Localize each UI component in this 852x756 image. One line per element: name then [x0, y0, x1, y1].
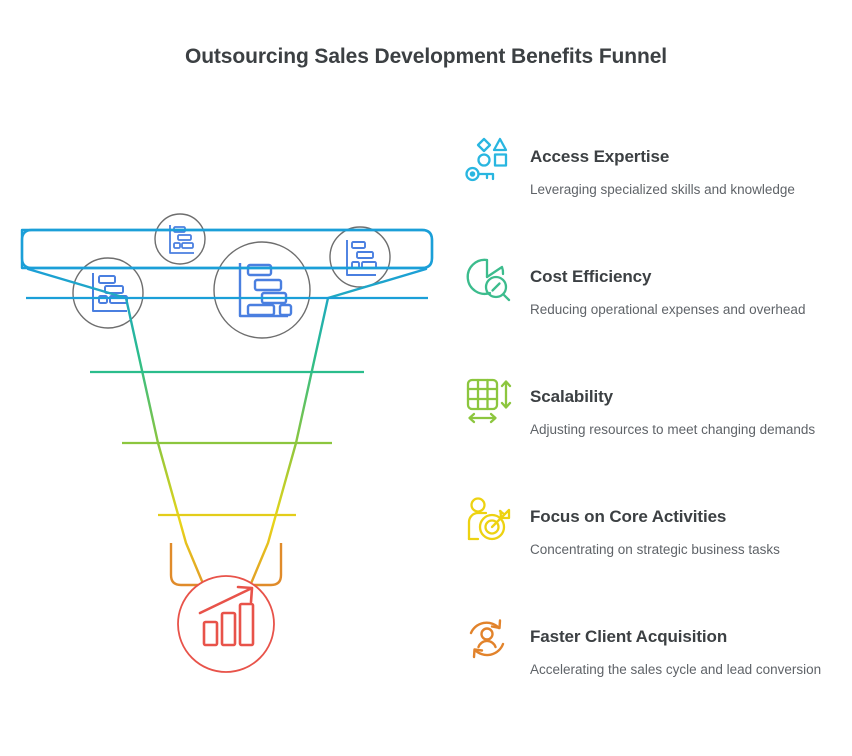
benefit-item-access-expertise[interactable]: Access Expertise Leveraging specialized …: [462, 132, 852, 252]
benefit-description: Leveraging specialized skills and knowle…: [530, 168, 830, 200]
funnel-svg: [0, 95, 455, 695]
benefit-description: Reducing operational expenses and overhe…: [530, 288, 830, 320]
benefit-description: Accelerating the sales cycle and lead co…: [530, 648, 830, 680]
funnel-top-icon-2: [155, 214, 205, 264]
page-title: Outsourcing Sales Development Benefits F…: [0, 45, 852, 69]
benefit-item-focus-core-activities[interactable]: Focus on Core Activities Concentrating o…: [462, 492, 852, 612]
benefit-item-cost-efficiency[interactable]: Cost Efficiency Reducing operational exp…: [462, 252, 852, 372]
benefit-title: Access Expertise: [530, 132, 852, 168]
benefit-title: Faster Client Acquisition: [530, 612, 852, 648]
benefit-description: Concentrating on strategic business task…: [530, 528, 830, 560]
funnel-top-icon-4: [330, 227, 390, 287]
benefits-list: Access Expertise Leveraging specialized …: [462, 132, 852, 732]
infographic-root: Outsourcing Sales Development Benefits F…: [0, 0, 852, 756]
benefit-item-scalability[interactable]: Scalability Adjusting resources to meet …: [462, 372, 852, 492]
benefit-item-faster-client-acquisition[interactable]: Faster Client Acquisition Accelerating t…: [462, 612, 852, 732]
benefit-title: Scalability: [530, 372, 852, 408]
benefit-title: Cost Efficiency: [530, 252, 852, 288]
funnel-bottom-icon: [178, 576, 274, 672]
person-refresh-icon: [465, 616, 513, 664]
pie-chart-magnifier-icon: [465, 256, 513, 304]
key-shapes-icon: [465, 136, 513, 184]
funnel-top-icon-3: [214, 242, 310, 338]
funnel-diagram: [0, 95, 455, 695]
person-target-icon: [465, 496, 513, 544]
benefit-description: Adjusting resources to meet changing dem…: [530, 408, 830, 440]
resize-grid-icon: [465, 376, 513, 424]
benefit-title: Focus on Core Activities: [530, 492, 852, 528]
